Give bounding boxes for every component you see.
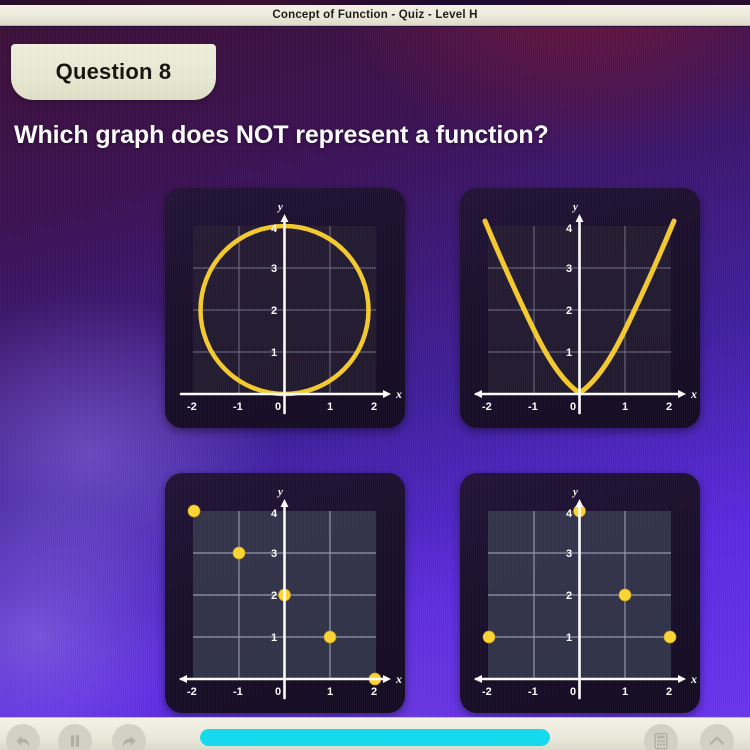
answer-options-grid: -2 -1 0 1 2 1 2 3 4 x y	[165, 188, 700, 713]
x-tick--1: -1	[233, 401, 243, 413]
y-tick-2: 2	[566, 590, 572, 602]
y-axis-arrow	[576, 499, 584, 507]
x-tick-1: 1	[327, 401, 333, 413]
x-axis-label: x	[395, 672, 402, 686]
x-tick--2: -2	[482, 686, 492, 698]
answer-option-c[interactable]: -2 -1 0 1 2 1 2 3 4 x y	[165, 473, 405, 713]
calculator-button[interactable]	[644, 724, 678, 750]
data-point	[664, 631, 676, 643]
window-titlebar: Concept of Function - Quiz - Level H	[0, 5, 750, 26]
y-tick-4: 4	[566, 508, 573, 520]
y-axis-label: y	[571, 201, 578, 213]
progress-bar[interactable]	[200, 729, 550, 746]
x-axis-arrow-left	[179, 675, 187, 683]
x-axis-arrow	[678, 390, 686, 398]
x-tick-0: 0	[275, 686, 281, 698]
data-point	[324, 631, 336, 643]
answer-option-b[interactable]: -2 -1 0 1 2 1 2 3 4 x y	[460, 188, 700, 428]
circle-graph: -2 -1 0 1 2 1 2 3 4 x y	[165, 188, 405, 428]
x-tick--1: -1	[528, 401, 538, 413]
x-tick-2: 2	[666, 401, 672, 413]
answer-option-a[interactable]: -2 -1 0 1 2 1 2 3 4 x y	[165, 188, 405, 428]
x-tick-0: 0	[570, 401, 576, 413]
y-axis-arrow	[576, 214, 584, 222]
y-axis-label: y	[276, 201, 283, 213]
x-axis-arrow-left	[474, 675, 482, 683]
y-tick-1: 1	[566, 632, 572, 644]
bottom-toolbar	[0, 717, 750, 750]
data-point	[619, 589, 631, 601]
x-tick--1: -1	[233, 686, 243, 698]
y-axis-arrow	[281, 499, 289, 507]
y-tick-4: 4	[271, 223, 278, 235]
question-number-label: Question 8	[56, 59, 172, 85]
answer-option-d[interactable]: -2 -1 0 1 2 1 2 3 4 x y	[460, 473, 700, 713]
progress-bar-fill	[200, 729, 550, 746]
x-tick-2: 2	[371, 686, 377, 698]
data-point	[188, 505, 200, 517]
y-axis-label: y	[276, 486, 283, 498]
x-axis-label: x	[690, 387, 697, 401]
x-axis-label: x	[690, 672, 697, 686]
window-title: Concept of Function - Quiz - Level H	[272, 9, 477, 21]
scroll-up-button[interactable]	[700, 724, 734, 750]
x-tick--2: -2	[187, 686, 197, 698]
y-tick-2: 2	[271, 305, 277, 317]
x-axis-arrow	[678, 675, 686, 683]
refresh-arrow-icon	[119, 731, 139, 750]
y-tick-2: 2	[271, 590, 277, 602]
x-tick--2: -2	[187, 401, 197, 413]
x-axis-arrow-left	[474, 390, 482, 398]
y-tick-3: 3	[566, 263, 572, 275]
y-tick-4: 4	[271, 508, 278, 520]
scatter-graph-scattered: -2 -1 0 1 2 1 2 3 4 x y	[460, 473, 700, 713]
parabola-graph: -2 -1 0 1 2 1 2 3 4 x y	[460, 188, 700, 428]
x-tick-1: 1	[622, 401, 628, 413]
y-tick-4: 4	[566, 223, 573, 235]
scatter-graph-decreasing: -2 -1 0 1 2 1 2 3 4 x y	[165, 473, 405, 713]
x-tick-1: 1	[622, 686, 628, 698]
x-tick-2: 2	[666, 686, 672, 698]
x-tick--2: -2	[482, 401, 492, 413]
data-point	[483, 631, 495, 643]
back-button[interactable]	[6, 724, 40, 750]
question-prompt: Which graph does NOT represent a functio…	[14, 121, 714, 150]
pause-icon	[65, 731, 85, 750]
x-tick-0: 0	[570, 686, 576, 698]
question-number-tab: Question 8	[11, 44, 216, 100]
quiz-stage: Question 8 Which graph does NOT represen…	[0, 27, 750, 717]
y-tick-2: 2	[566, 305, 572, 317]
refresh-button[interactable]	[112, 724, 146, 750]
x-tick--1: -1	[528, 686, 538, 698]
y-axis-arrow	[281, 214, 289, 222]
x-tick-0: 0	[275, 401, 281, 413]
chevron-up-icon	[707, 731, 727, 750]
y-tick-1: 1	[566, 347, 572, 359]
y-tick-1: 1	[271, 347, 277, 359]
x-tick-2: 2	[371, 401, 377, 413]
pause-button[interactable]	[58, 724, 92, 750]
y-axis-label: y	[571, 486, 578, 498]
x-axis-arrow	[383, 390, 391, 398]
back-arrow-icon	[13, 731, 33, 750]
x-axis-arrow	[383, 675, 391, 683]
y-tick-3: 3	[271, 263, 277, 275]
data-point	[233, 547, 245, 559]
y-tick-3: 3	[566, 548, 572, 560]
x-tick-1: 1	[327, 686, 333, 698]
y-tick-3: 3	[271, 548, 277, 560]
x-axis-label: x	[395, 387, 402, 401]
y-tick-1: 1	[271, 632, 277, 644]
calculator-icon	[651, 731, 671, 750]
